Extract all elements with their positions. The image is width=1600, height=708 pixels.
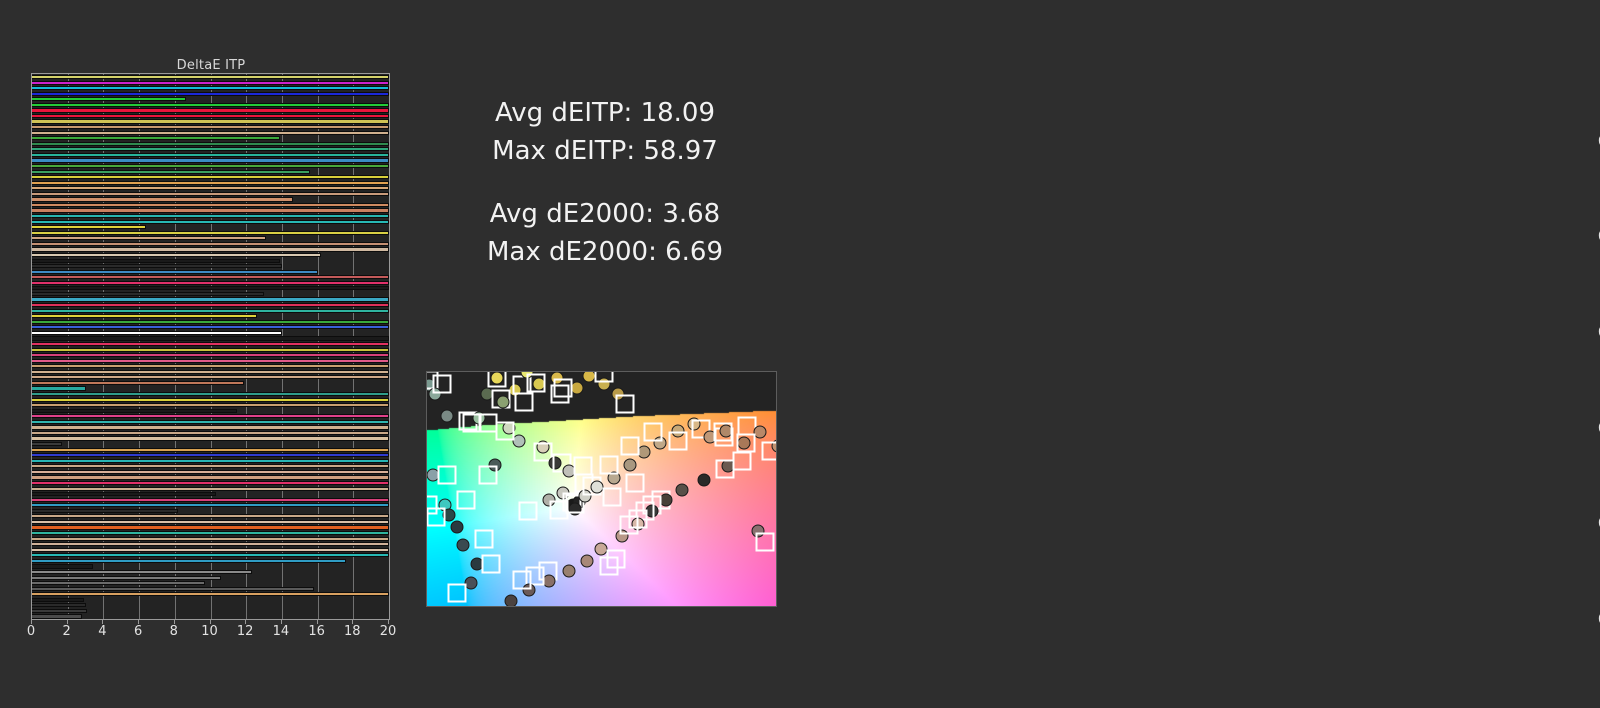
inset-target-point bbox=[488, 371, 507, 387]
inset-measured-point bbox=[497, 395, 510, 408]
inset-target-point bbox=[527, 374, 546, 393]
deltae-bar bbox=[32, 175, 389, 179]
deltae-bar bbox=[32, 548, 389, 552]
deltae-bar bbox=[32, 309, 389, 313]
screenshot-root: DeltaE ITP 02468101214161820 Avg dEITP: … bbox=[0, 0, 1600, 708]
deltae-bar bbox=[32, 297, 389, 301]
deltae-bar bbox=[32, 253, 321, 257]
deltae-bar bbox=[32, 570, 252, 574]
inset-target-point bbox=[713, 423, 732, 442]
deltae-bar bbox=[32, 587, 314, 591]
inset-target-point bbox=[715, 460, 734, 479]
deltae-bar bbox=[32, 303, 389, 307]
deltae-bar bbox=[32, 448, 389, 452]
deltae-bar bbox=[32, 592, 389, 596]
avg-de2000-line: Avg dE2000: 3.68 bbox=[440, 196, 770, 234]
cie-y-axis: 0.050.10.150.20.250.30.350.40.450.50.55 bbox=[1590, 107, 1600, 669]
deltae-bar bbox=[32, 453, 389, 457]
deltae-bar bbox=[32, 286, 389, 290]
deltae-bar bbox=[32, 119, 389, 123]
deltae-bar bbox=[32, 342, 389, 346]
deltae-bar bbox=[32, 537, 389, 541]
deltae-chart-title: DeltaE ITP bbox=[31, 58, 391, 73]
deltae-bar bbox=[32, 136, 280, 140]
deltae-bar bbox=[32, 581, 205, 585]
inset-target-point bbox=[620, 437, 639, 456]
inset-target-point bbox=[736, 433, 755, 452]
deltae-x-tick-label: 4 bbox=[98, 624, 106, 639]
deltae-bar bbox=[32, 147, 389, 151]
inset-measured-point bbox=[451, 520, 464, 533]
inset-target-point bbox=[479, 466, 498, 485]
inset-target-point bbox=[755, 532, 774, 551]
inset-target-point bbox=[482, 554, 501, 573]
deltae-bar bbox=[32, 492, 216, 496]
deltae-bar bbox=[32, 431, 389, 435]
deltae-bar bbox=[32, 314, 257, 318]
deltae-bar bbox=[32, 409, 237, 413]
deltae-bar bbox=[32, 403, 389, 407]
inset-target-point bbox=[615, 395, 634, 414]
inset-target-point bbox=[457, 490, 476, 509]
deltae-bar bbox=[32, 264, 282, 268]
deltae-bar bbox=[32, 470, 389, 474]
deltae-bar bbox=[32, 186, 389, 190]
deltae-bar bbox=[32, 353, 389, 357]
deltae-bar bbox=[32, 86, 389, 90]
deltae-bar bbox=[32, 414, 389, 418]
deltae-bar bbox=[32, 553, 389, 557]
deltae-x-axis: 02468101214161820 bbox=[31, 620, 390, 646]
inset-target-point bbox=[515, 392, 534, 411]
cie-1976-panel: CIE 1976 u'v' 0.050.10.150.20.250.30.350… bbox=[795, 44, 1600, 708]
inset-target-point bbox=[643, 423, 662, 442]
inset-target-point bbox=[554, 379, 573, 398]
deltae-bar bbox=[32, 375, 389, 379]
deltae-x-tick-label: 10 bbox=[201, 624, 218, 639]
deltae-bar bbox=[32, 142, 389, 146]
deltae-bar bbox=[32, 170, 310, 174]
deltae-bar bbox=[32, 197, 293, 201]
deltae-bar bbox=[32, 420, 389, 424]
inset-target-point bbox=[433, 374, 452, 393]
deltae-bar bbox=[32, 464, 389, 468]
summary-stats: Avg dEITP: 18.09 Max dEITP: 58.97 Avg dE… bbox=[440, 95, 770, 272]
deltae-bar bbox=[32, 92, 389, 96]
deltae-bar bbox=[32, 520, 389, 524]
deltae-bar bbox=[32, 231, 389, 235]
inset-target-point bbox=[513, 570, 532, 589]
deltae-bar bbox=[32, 214, 389, 218]
deltae-bar bbox=[32, 503, 389, 507]
deltae-gridline bbox=[389, 74, 390, 619]
inset-measured-point bbox=[505, 594, 518, 607]
inset-target-point bbox=[496, 422, 515, 441]
deltae-bar bbox=[32, 609, 87, 613]
max-de2000-line: Max dE2000: 6.69 bbox=[440, 234, 770, 272]
deltae-bar bbox=[32, 370, 389, 374]
deltae-bar bbox=[32, 498, 389, 502]
deltae-bar bbox=[32, 475, 389, 479]
deltae-bar bbox=[32, 114, 389, 118]
inset-target-point bbox=[732, 452, 751, 471]
deltae-bar bbox=[32, 242, 389, 246]
deltae-x-tick-label: 2 bbox=[63, 624, 71, 639]
deltae-bar bbox=[32, 81, 389, 85]
deltae-bar bbox=[32, 542, 389, 546]
deltae-bar bbox=[32, 153, 389, 157]
inset-measured-point bbox=[697, 473, 710, 486]
inset-target-point bbox=[625, 474, 644, 493]
deltae-bar bbox=[32, 381, 244, 385]
deltae-x-tick-label: 8 bbox=[170, 624, 178, 639]
stats-spacer bbox=[440, 170, 770, 196]
deltae-bar bbox=[32, 531, 389, 535]
inset-target-point bbox=[519, 501, 538, 520]
inset-measured-point bbox=[441, 410, 454, 423]
deltae-x-tick-label: 6 bbox=[134, 624, 142, 639]
deltae-x-tick-label: 12 bbox=[237, 624, 254, 639]
deltae-bar bbox=[32, 559, 346, 563]
deltae-bar bbox=[32, 481, 389, 485]
deltae-bar bbox=[32, 236, 266, 240]
inset-measured-point bbox=[675, 484, 688, 497]
deltae-bar bbox=[32, 108, 389, 112]
deltae-x-tick-label: 16 bbox=[308, 624, 325, 639]
inset-target-point bbox=[602, 488, 621, 507]
inset-target-point bbox=[761, 441, 777, 460]
inset-measured-point bbox=[457, 538, 470, 551]
deltae-bar bbox=[32, 514, 389, 518]
inset-target-point bbox=[599, 455, 618, 474]
deltae-bar bbox=[32, 331, 282, 335]
deltae-x-tick-label: 0 bbox=[27, 624, 35, 639]
deltae-bar bbox=[32, 614, 82, 618]
deltae-bar bbox=[32, 203, 389, 207]
inset-target-point bbox=[594, 371, 613, 383]
deltae-bar bbox=[32, 436, 389, 440]
deltae-bar bbox=[32, 247, 389, 251]
deltae-bar bbox=[32, 525, 389, 529]
inset-target-point bbox=[599, 556, 618, 575]
deltae-x-tick-label: 14 bbox=[273, 624, 290, 639]
deltae-bar bbox=[32, 158, 389, 162]
deltae-bar bbox=[32, 386, 86, 390]
deltae-bar bbox=[32, 336, 389, 340]
inset-target-point bbox=[438, 466, 457, 485]
inset-target-point bbox=[619, 516, 638, 535]
deltae-bar bbox=[32, 398, 389, 402]
inset-target-point bbox=[475, 530, 494, 549]
avg-deitp-line: Avg dEITP: 18.09 bbox=[440, 95, 770, 133]
deltae-bar bbox=[32, 281, 389, 285]
deltae-bar bbox=[32, 459, 389, 463]
deltae-bar bbox=[32, 425, 389, 429]
deltae-bar bbox=[32, 359, 389, 363]
inset-measured-point bbox=[581, 554, 594, 567]
deltae-x-tick-label: 20 bbox=[380, 624, 397, 639]
deltae-bar bbox=[32, 598, 84, 602]
inset-target-point bbox=[427, 507, 446, 526]
max-deitp-line: Max dEITP: 58.97 bbox=[440, 133, 770, 171]
deltae-bar bbox=[32, 220, 389, 224]
deltae-bar bbox=[32, 509, 178, 513]
deltae-bar bbox=[32, 259, 280, 263]
gamut-inset-panel bbox=[426, 371, 777, 607]
deltae-x-tick-label: 18 bbox=[344, 624, 361, 639]
deltae-bar bbox=[32, 603, 86, 607]
deltae-bar bbox=[32, 208, 389, 212]
deltae-bar bbox=[32, 131, 389, 135]
deltae-bar bbox=[32, 576, 221, 580]
deltae-bar bbox=[32, 164, 389, 168]
deltae-plot-area bbox=[31, 73, 390, 620]
deltae-bar bbox=[32, 225, 146, 229]
inset-target-point bbox=[668, 432, 687, 451]
inset-measured-point bbox=[623, 458, 636, 471]
gamut-inset-points bbox=[427, 372, 776, 606]
deltae-bar bbox=[32, 292, 264, 296]
deltae-bar bbox=[32, 75, 389, 79]
deltae-bar bbox=[32, 275, 389, 279]
deltae-bar bbox=[32, 487, 389, 491]
deltae-bar bbox=[32, 97, 186, 101]
deltae-bar bbox=[32, 125, 389, 129]
deltae-bar bbox=[32, 320, 389, 324]
inset-measured-point bbox=[563, 565, 576, 578]
deltae-bar bbox=[32, 103, 389, 107]
deltae-itp-panel: DeltaE ITP 02468101214161820 bbox=[0, 0, 410, 708]
deltae-bar bbox=[32, 270, 318, 274]
deltae-bar bbox=[32, 192, 389, 196]
deltae-bars bbox=[32, 75, 389, 619]
deltae-bar bbox=[32, 392, 389, 396]
deltae-bar bbox=[32, 325, 389, 329]
inset-target-point bbox=[448, 584, 467, 603]
deltae-bar bbox=[32, 348, 389, 352]
deltae-bar bbox=[32, 364, 389, 368]
deltae-bar bbox=[32, 564, 93, 568]
deltae-bar bbox=[32, 181, 389, 185]
deltae-bar bbox=[32, 442, 62, 446]
